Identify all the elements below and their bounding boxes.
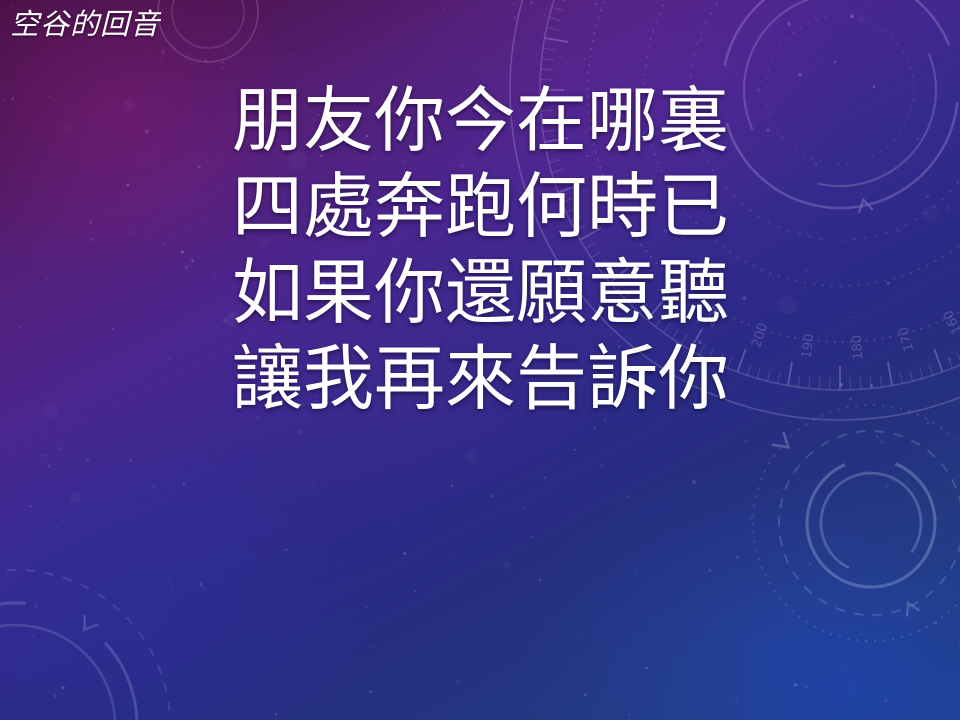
slide-title-text: 空谷的回音 <box>10 6 160 42</box>
circular-ring-icon <box>152 0 264 68</box>
lyric-line: 朋友你今在哪裏 <box>232 78 742 164</box>
svg-text:170: 170 <box>896 325 917 353</box>
lyrics-block: 朋友你今在哪裏 四處奔跑何時已 如果你還願意聽 讓我再來告訴你 <box>232 78 742 422</box>
svg-text:160: 160 <box>941 307 960 336</box>
svg-text:200: 200 <box>749 321 771 349</box>
nebula-glow <box>640 520 960 720</box>
lyric-line: 四處奔跑何時已 <box>232 164 742 250</box>
circular-ring-icon <box>0 560 180 720</box>
lyric-line: 如果你還願意聽 <box>232 250 742 336</box>
svg-text:180: 180 <box>850 334 867 360</box>
slide-canvas: 8090100110120130140150160170180190200220 <box>0 0 960 720</box>
lyric-line: 讓我再來告訴你 <box>232 336 742 422</box>
svg-text:190: 190 <box>800 333 818 359</box>
slide-title: 空谷的回音 <box>10 6 160 42</box>
circular-ring-icon <box>746 398 960 648</box>
nebula-glow <box>420 390 960 720</box>
